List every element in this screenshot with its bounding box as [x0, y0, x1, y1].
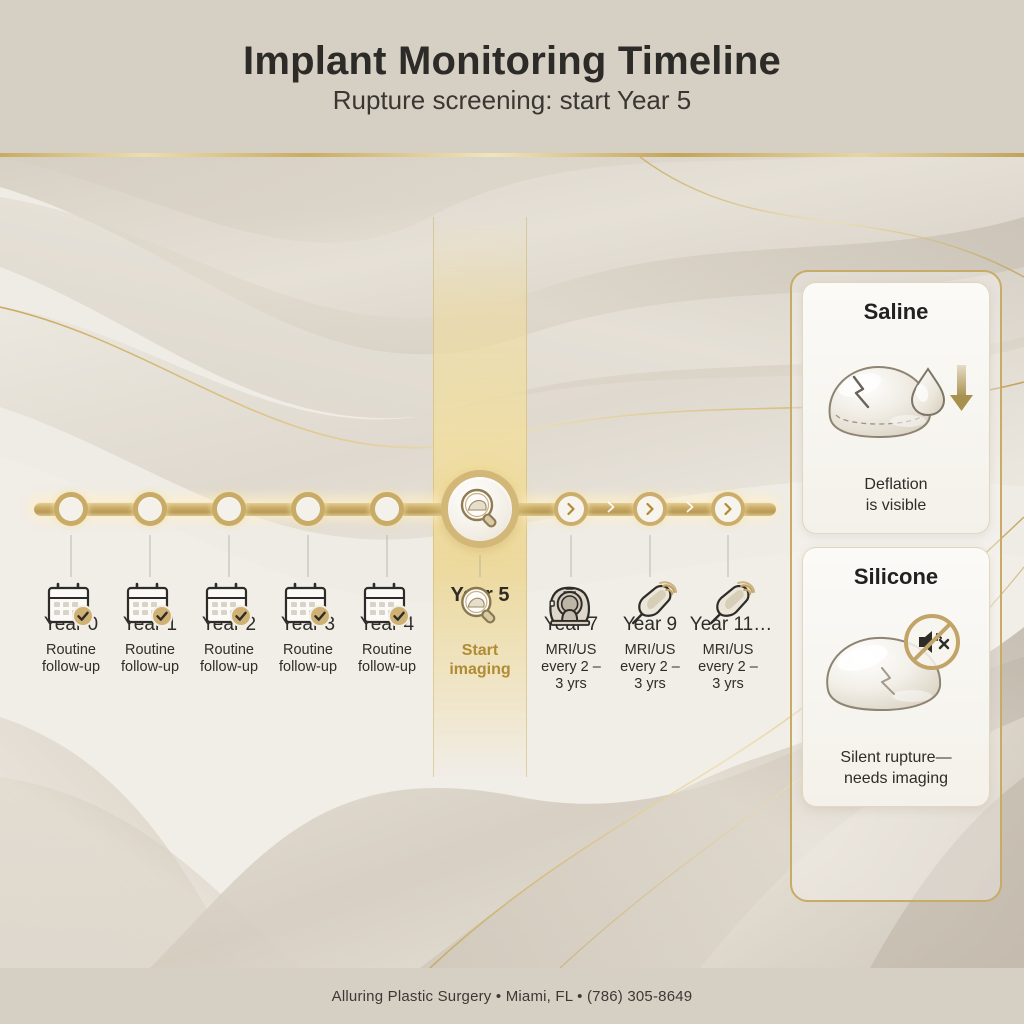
- card-saline-title: Saline: [864, 299, 929, 325]
- step-column-year-4: Routine follow-up: [358, 581, 416, 676]
- chevron-right-icon: [643, 502, 657, 516]
- chevron-right-icon: [564, 502, 578, 516]
- connector-5: [480, 555, 481, 577]
- connector-3: [308, 535, 309, 577]
- connector-1: [150, 535, 151, 577]
- card-silicone-title: Silicone: [854, 564, 938, 590]
- step-caption-year-0: Routine follow-up: [42, 642, 100, 676]
- step-caption-year-7: MRI/US every 2 – 3 yrs: [541, 642, 601, 693]
- calendar-check-icon: [123, 581, 177, 631]
- timeline-node-year-1[interactable]: [133, 492, 167, 526]
- step-column-year-9: MRI/US every 2 – 3 yrs: [620, 581, 680, 693]
- infographic-root: Implant Monitoring Timeline Rupture scre…: [0, 0, 1024, 1024]
- step-caption-year-4: Routine follow-up: [358, 642, 416, 676]
- step-caption-year-9: MRI/US every 2 – 3 yrs: [620, 642, 680, 693]
- step-column-year-5: Start imaging: [449, 581, 510, 680]
- stage: Year 0 Year 1 Year 2 Year 3 Year 4 Year …: [0, 157, 1024, 968]
- card-saline-caption: Deflation is visible: [864, 475, 927, 517]
- calendar-check-icon: [44, 581, 98, 631]
- connector-11: [728, 535, 729, 577]
- step-column-year-11: MRI/US every 2 – 3 yrs: [698, 581, 758, 693]
- timeline-node-year-0[interactable]: [54, 492, 88, 526]
- rail-separator-chevron-2: [686, 500, 695, 518]
- timeline-node-year-2[interactable]: [212, 492, 246, 526]
- ultrasound-probe-icon: [701, 581, 755, 631]
- step-column-year-0: Routine follow-up: [42, 581, 100, 676]
- timeline-node-year-9[interactable]: [633, 492, 667, 526]
- card-silicone[interactable]: Silicone: [802, 547, 990, 807]
- silent-rupture-implant-icon: [816, 612, 976, 727]
- timeline-node-year-11[interactable]: [711, 492, 745, 526]
- calendar-check-icon: [281, 581, 335, 631]
- step-column-year-2: Routine follow-up: [200, 581, 258, 676]
- magnifier-implant-icon: [455, 484, 505, 534]
- page-title: Implant Monitoring Timeline: [243, 40, 781, 82]
- connector-4: [387, 535, 388, 577]
- step-column-year-1: Routine follow-up: [121, 581, 179, 676]
- calendar-check-icon: [202, 581, 256, 631]
- timeline-node-year-5[interactable]: [441, 470, 519, 548]
- step-column-year-7: MRI/US every 2 – 3 yrs: [541, 581, 601, 693]
- step-caption-year-1: Routine follow-up: [121, 642, 179, 676]
- card-silicone-caption: Silent rupture— needs imaging: [840, 748, 951, 790]
- card-saline-illustration: [803, 325, 989, 475]
- card-saline[interactable]: Saline: [802, 282, 990, 534]
- chevron-right-icon: [721, 502, 735, 516]
- ultrasound-probe-icon: [623, 581, 677, 631]
- magnifier-implant-icon: [453, 581, 507, 631]
- mri-scanner-icon: [544, 581, 598, 631]
- timeline-node-year-7[interactable]: [554, 492, 588, 526]
- step-caption-year-2: Routine follow-up: [200, 642, 258, 676]
- rail-separator-chevron-1: [607, 500, 616, 518]
- step-column-year-3: Routine follow-up: [279, 581, 337, 676]
- connector-0: [71, 535, 72, 577]
- step-caption-year-3: Routine follow-up: [279, 642, 337, 676]
- connector-9: [650, 535, 651, 577]
- card-silicone-illustration: [803, 590, 989, 748]
- calendar-check-icon: [360, 581, 414, 631]
- connector-2: [229, 535, 230, 577]
- step-caption-year-5: Start imaging: [449, 642, 510, 680]
- footer-contact-text: Alluring Plastic Surgery • Miami, FL • (…: [332, 988, 693, 1005]
- page-subtitle: Rupture screening: start Year 5: [333, 86, 691, 116]
- footer-band: Alluring Plastic Surgery • Miami, FL • (…: [0, 968, 1024, 1024]
- connector-7: [571, 535, 572, 577]
- timeline-node-year-3[interactable]: [291, 492, 325, 526]
- step-caption-year-11: MRI/US every 2 – 3 yrs: [698, 642, 758, 693]
- timeline-node-year-4[interactable]: [370, 492, 404, 526]
- header-band: Implant Monitoring Timeline Rupture scre…: [0, 0, 1024, 156]
- ruptured-saline-implant-icon: [816, 345, 976, 455]
